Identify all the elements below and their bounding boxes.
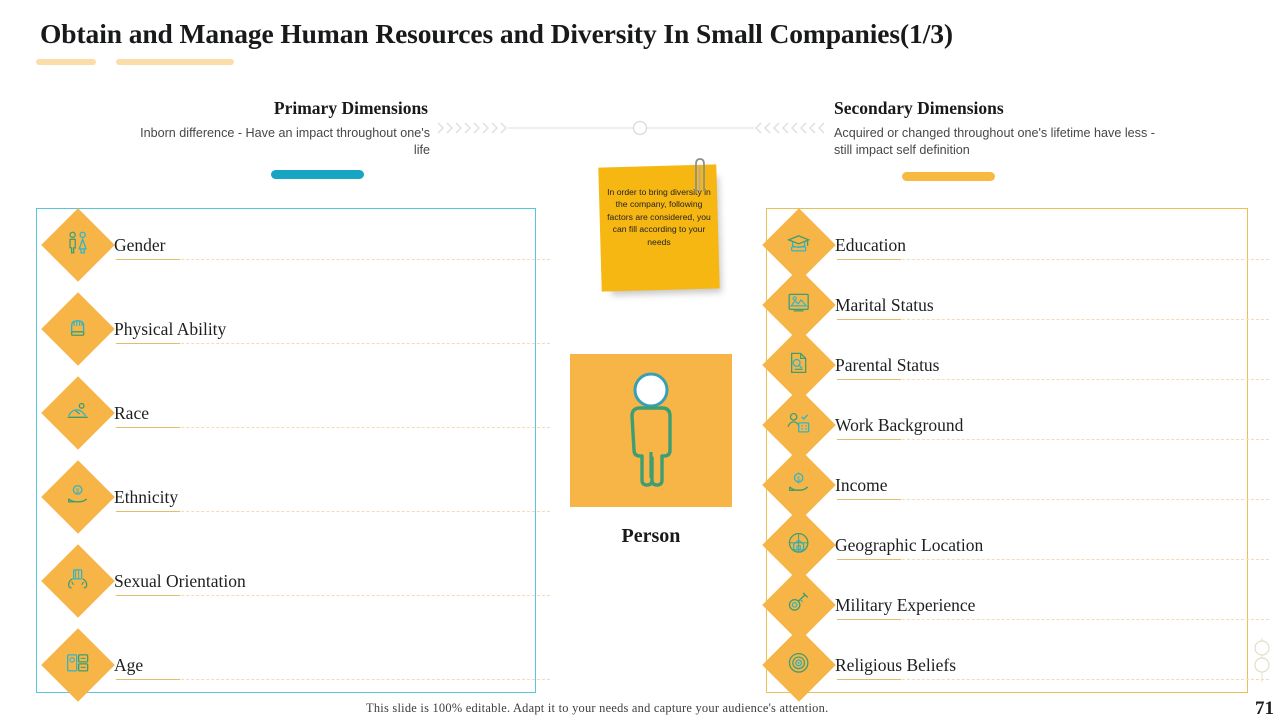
list-item[interactable]: Race [52,387,149,439]
list-item-label: Parental Status [835,355,940,375]
person-icon [570,354,732,507]
gender-icon [41,208,115,282]
rule-solid-segment [116,259,180,260]
rule-solid-segment [837,439,901,440]
list-item[interactable]: Gender [52,219,166,271]
list-item[interactable]: Parental Status [773,339,940,391]
target-icon [762,628,836,702]
list-item-label: Race [114,403,149,423]
rule-solid-segment [837,319,901,320]
rule-dashed-segment [837,679,1269,680]
list-item-label: Age [114,655,143,675]
rule-dashed-segment [837,619,1269,620]
race-icon [41,376,115,450]
secondary-accent-bar [902,172,995,181]
calendar-icon-glyph [65,650,91,681]
rule-dashed-segment [116,259,550,260]
hand-coin-icon: $ [41,460,115,534]
home-globe-icon-glyph [786,530,812,561]
primary-dimensions-panel [36,208,536,693]
rule-dashed-segment [116,511,550,512]
secondary-dimensions-header: Secondary Dimensions Acquired or changed… [834,98,1164,181]
list-item-rule [837,679,1269,680]
slide-canvas: Obtain and Manage Human Resources and Di… [0,0,1280,720]
fist-icon [41,292,115,366]
rule-solid-segment [837,679,901,680]
medal-icon-glyph [786,590,812,621]
hand-coin-icon-glyph: $ [65,482,91,513]
graduation-icon-glyph [786,230,812,261]
rule-dashed-segment [116,679,550,680]
edge-dots-decoration [1252,638,1272,682]
list-item-label: Geographic Location [835,535,983,555]
list-item-rule [116,595,550,596]
rule-dashed-segment [837,259,1269,260]
rule-dashed-segment [116,595,550,596]
title-bar-2 [116,59,234,65]
list-item-rule [837,439,1269,440]
paperclip-icon [692,157,708,199]
title-bar-1 [36,59,96,65]
rule-solid-segment [837,499,901,500]
list-item[interactable]: Education [773,219,906,271]
list-item-rule [837,499,1269,500]
list-item-rule [116,511,550,512]
money-hand-icon-glyph: $ [786,470,812,501]
connector-arrows [436,118,826,138]
gender-icon-glyph [65,230,91,261]
list-item-label: Income [835,475,887,495]
list-item-label: Sexual Orientation [114,571,246,591]
list-item[interactable]: Geographic Location [773,519,983,571]
list-item-rule [837,559,1269,560]
list-item-rule [116,679,550,680]
person-label: Person [570,525,732,548]
rule-solid-segment [837,259,901,260]
person-card [570,354,732,507]
sticky-note[interactable]: In order to bring diversity in the compa… [600,166,725,301]
rule-dashed-segment [837,439,1269,440]
list-item[interactable]: Age [52,639,143,691]
calendar-icon [41,628,115,702]
list-item-rule [837,379,1269,380]
rule-dashed-segment [837,559,1269,560]
title-underline-bars [36,59,234,65]
certificate-icon-glyph [786,290,812,321]
document-search-icon-glyph [786,350,812,381]
list-item[interactable]: Religious Beliefs [773,639,956,691]
list-item-rule [837,619,1269,620]
list-item-label: Gender [114,235,166,255]
target-icon-glyph [786,650,812,681]
page-title: Obtain and Manage Human Resources and Di… [40,18,953,50]
list-item[interactable]: Work Background [773,399,963,451]
list-item-rule [116,427,550,428]
hands-book-icon [41,544,115,618]
list-item-label: Education [835,235,906,255]
list-item-label: Military Experience [835,595,975,615]
list-item-label: Work Background [835,415,963,435]
rule-solid-segment [116,595,180,596]
list-item-label: Physical Ability [114,319,226,339]
list-item-rule [116,343,550,344]
rule-dashed-segment [837,379,1269,380]
worker-icon-glyph [786,410,812,441]
rule-solid-segment [837,619,901,620]
rule-dashed-segment [837,319,1269,320]
race-icon-glyph [65,398,91,429]
rule-dashed-segment [116,343,550,344]
list-item-label: Religious Beliefs [835,655,956,675]
primary-dimensions-header: Primary Dimensions Inborn difference - H… [130,98,430,179]
list-item[interactable]: Physical Ability [52,303,226,355]
list-item-rule [116,259,550,260]
rule-solid-segment [116,343,180,344]
rule-solid-segment [116,511,180,512]
list-item-rule [837,319,1269,320]
rule-dashed-segment [116,427,550,428]
rule-solid-segment [116,427,180,428]
primary-dimensions-subtitle: Inborn difference - Have an impact throu… [130,125,430,158]
rule-solid-segment [116,679,180,680]
list-item-label: Ethnicity [114,487,178,507]
primary-dimensions-title: Primary Dimensions [130,98,430,119]
rule-solid-segment [837,379,901,380]
list-item[interactable]: $Income [773,459,887,511]
page-number: 71 [1255,698,1274,720]
footer-note: This slide is 100% editable. Adapt it to… [366,701,828,716]
rule-dashed-segment [837,499,1269,500]
list-item[interactable]: Sexual Orientation [52,555,246,607]
list-item[interactable]: Military Experience [773,579,975,631]
list-item[interactable]: Marital Status [773,279,934,331]
list-item-label: Marital Status [835,295,934,315]
secondary-dimensions-subtitle: Acquired or changed throughout one's lif… [834,125,1164,158]
primary-accent-bar [271,170,364,179]
list-item[interactable]: $Ethnicity [52,471,178,523]
fist-icon-glyph [65,314,91,345]
secondary-dimensions-title: Secondary Dimensions [834,98,1164,119]
rule-solid-segment [837,559,901,560]
list-item-rule [837,259,1269,260]
hands-book-icon-glyph [65,566,91,597]
